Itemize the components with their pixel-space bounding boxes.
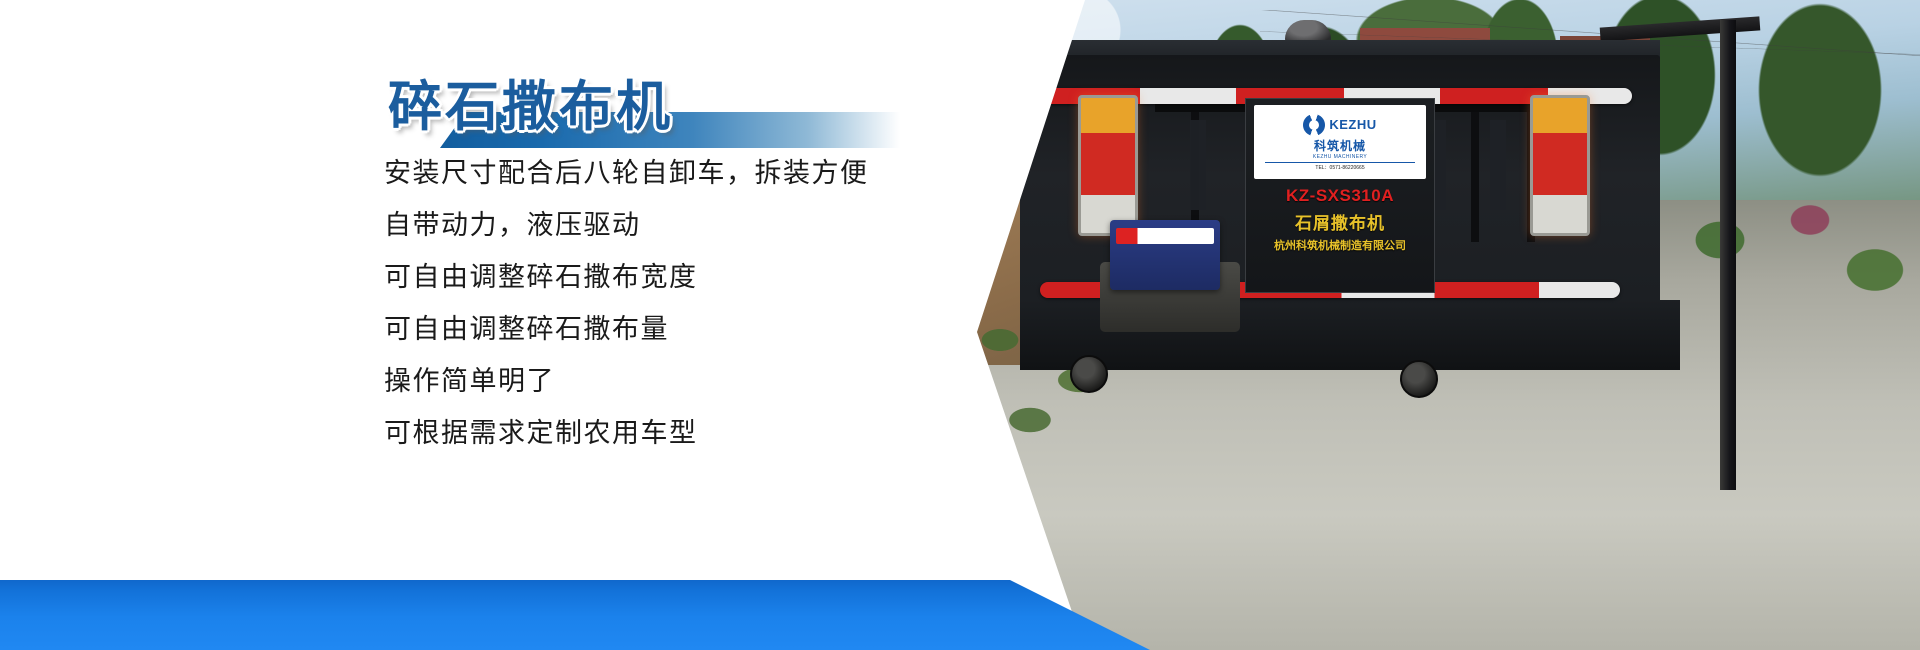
brand-logo-row: KEZHU (1303, 114, 1376, 136)
list-item: 可自由调整碎石撒布宽度 (384, 252, 1004, 304)
machine-placard: KEZHU 科筑机械 KEZHU MACHINERY TEL：0571-8622… (1245, 98, 1435, 293)
machine-company-name: 杭州科筑机械制造有限公司 (1274, 237, 1406, 253)
page-title: 碎石撒布机 (388, 62, 673, 141)
engine-label-icon (1116, 228, 1214, 244)
product-banner: KEZHU 科筑机械 KEZHU MACHINERY TEL：0571-8622… (0, 0, 1920, 650)
taillight-left (1078, 95, 1138, 236)
machine-product-type: 石屑撒布机 (1295, 209, 1385, 234)
brand-name-cn: 科筑机械 (1314, 137, 1366, 154)
list-item: 操作简单明了 (384, 356, 1004, 408)
brand-telephone: TEL：0571-86220665 (1265, 162, 1415, 171)
kezhu-logo-icon (1303, 114, 1325, 136)
roadside-flowers (1660, 180, 1920, 360)
support-mast (1720, 20, 1736, 490)
bottom-accent-band (0, 568, 1150, 650)
engine-unit (1110, 220, 1220, 290)
machine-photo: KEZHU 科筑机械 KEZHU MACHINERY TEL：0571-8622… (960, 0, 1920, 650)
machine-model-number: KZ-SXS310A (1286, 186, 1394, 206)
feature-list: 安装尺寸配合后八轮自卸车，拆装方便 自带动力，液压驱动 可自由调整碎石撒布宽度 … (384, 148, 1004, 460)
taillight-right (1530, 95, 1590, 236)
brand-subtitle-en: KEZHU MACHINERY (1313, 154, 1367, 160)
list-item: 可自由调整碎石撒布量 (384, 304, 1004, 356)
wheel-left (1070, 355, 1108, 393)
brand-name-en: KEZHU (1329, 117, 1376, 132)
list-item: 可根据需求定制农用车型 (384, 408, 1004, 460)
wheel-right (1400, 360, 1438, 398)
brand-logo-box: KEZHU 科筑机械 KEZHU MACHINERY TEL：0571-8622… (1254, 105, 1426, 179)
list-item: 自带动力，液压驱动 (384, 200, 1004, 252)
list-item: 安装尺寸配合后八轮自卸车，拆装方便 (384, 148, 1004, 200)
photo-canvas: KEZHU 科筑机械 KEZHU MACHINERY TEL：0571-8622… (960, 0, 1920, 650)
